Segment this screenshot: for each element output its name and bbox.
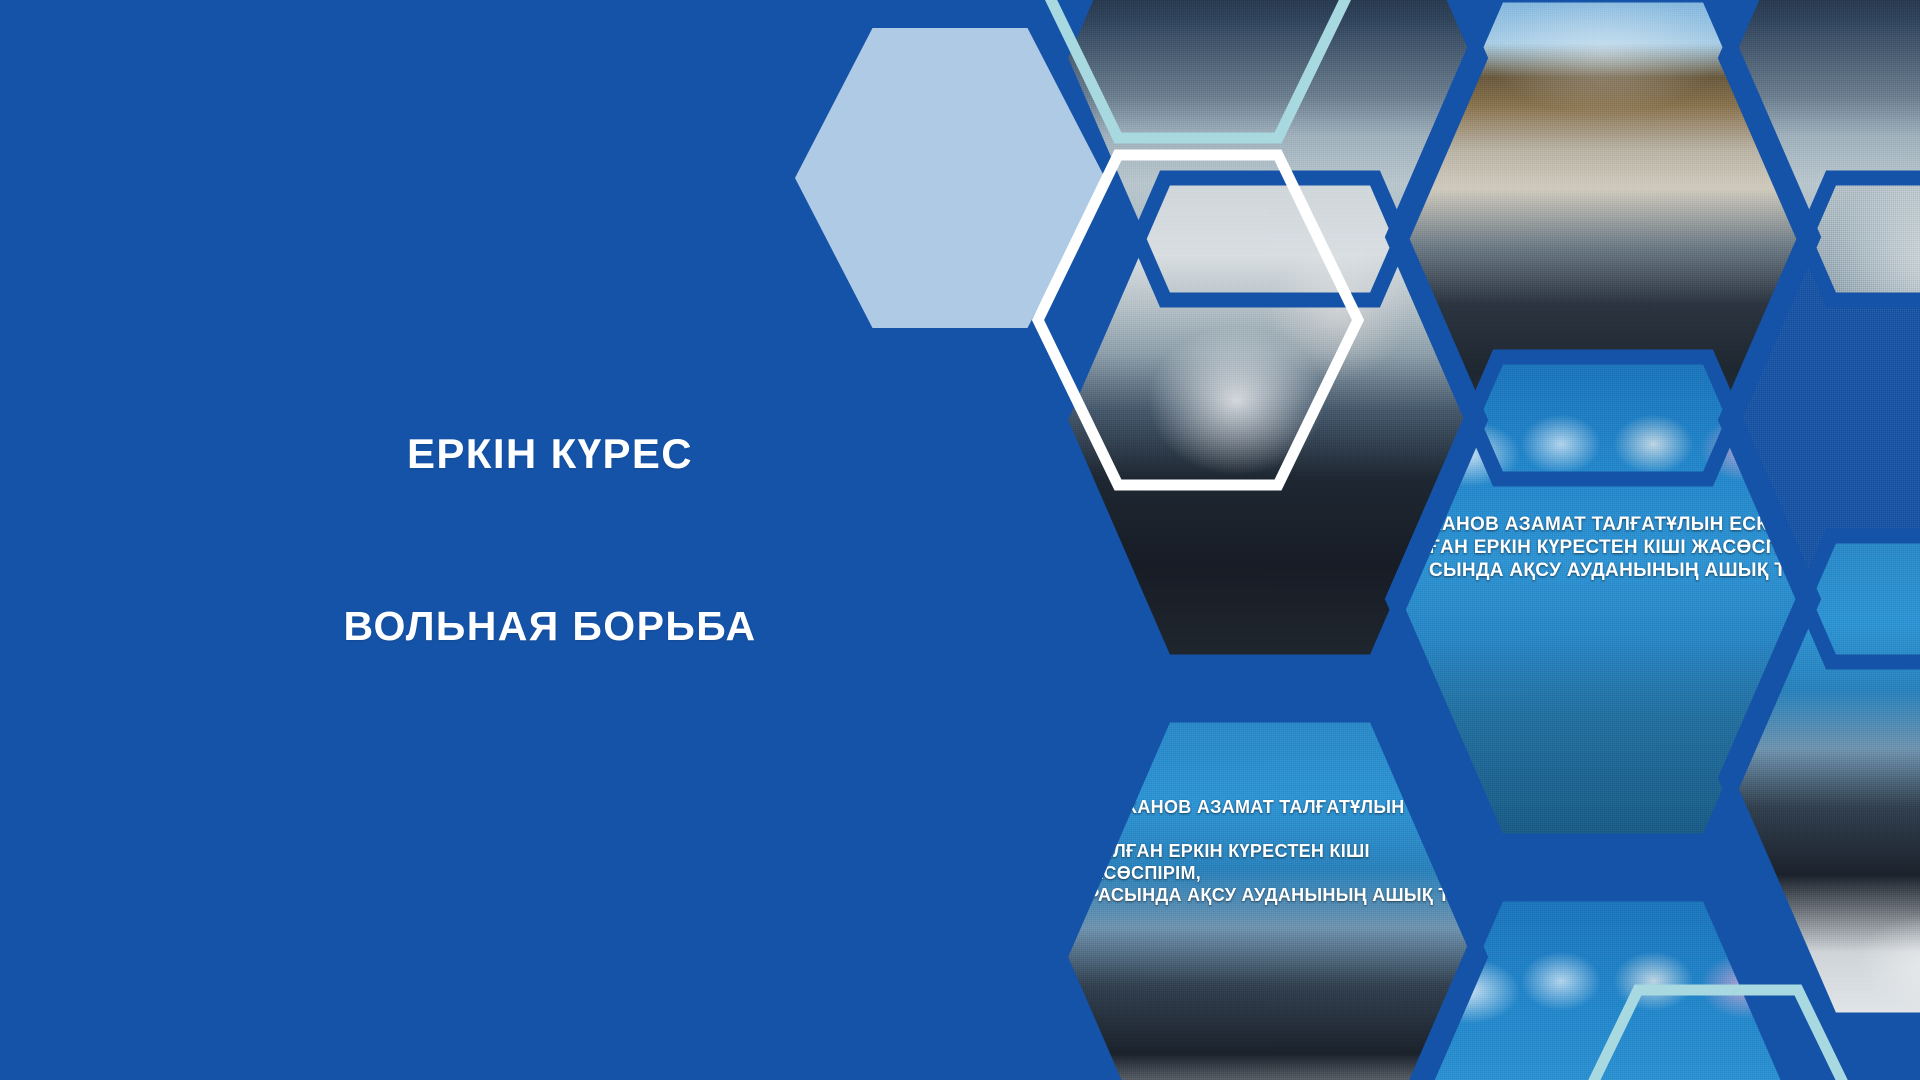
bottom-cyan-outline-hexagon xyxy=(1558,990,1878,1080)
cyan-outline-hexagon xyxy=(1038,0,1358,138)
white-outline-hexagon xyxy=(1038,155,1358,485)
slide-canvas: ХАНОВ АЗАМАТ ТАЛҒАТҰЛЫН ЕСКЕ ҒАН ЕРКІН К… xyxy=(0,0,1920,1080)
